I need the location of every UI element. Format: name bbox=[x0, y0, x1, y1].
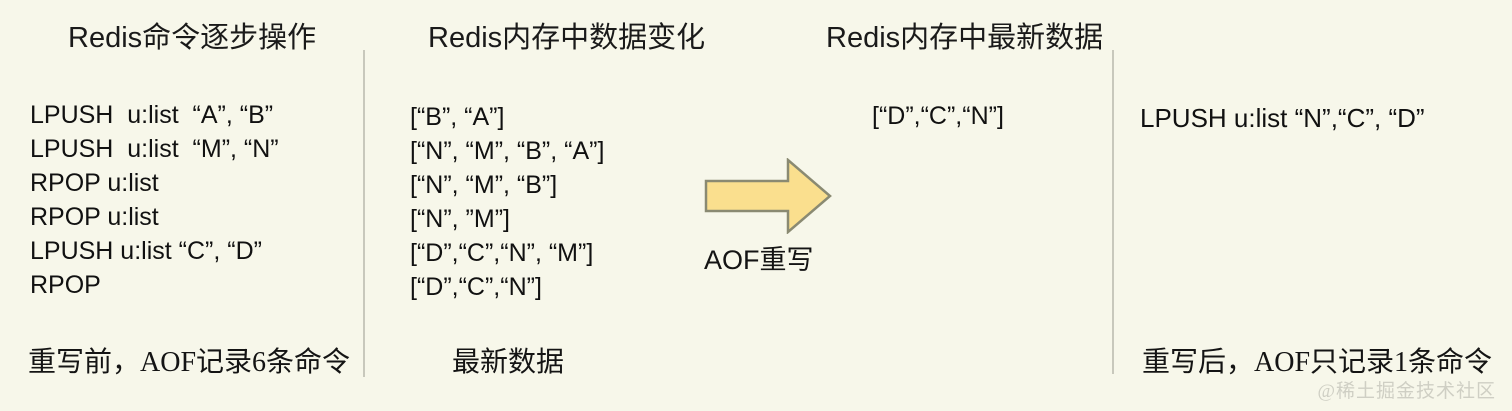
aof-rewrite-label: AOF重写 bbox=[704, 238, 814, 277]
caption-latest-data: 最新数据 bbox=[452, 340, 564, 380]
column-divider-left bbox=[363, 50, 365, 377]
heading-redis-commands: Redis命令逐步操作 bbox=[68, 14, 316, 56]
heading-redis-latest-data: Redis内存中最新数据 bbox=[826, 14, 1103, 56]
aof-rewrite-arrow-icon bbox=[704, 158, 832, 234]
memory-state-line: [“D”,“C”,“N”] bbox=[410, 275, 604, 300]
command-line: LPUSH u:list “A”, “B” bbox=[30, 103, 279, 128]
command-line: RPOP bbox=[30, 273, 279, 298]
memory-state-line: [“N”, ”M”] bbox=[410, 207, 604, 232]
memory-state-list: [“B”, “A”] [“N”, “M”, “B”, “A”] [“N”, “M… bbox=[410, 105, 604, 309]
heading-redis-memory-changes: Redis内存中数据变化 bbox=[428, 14, 705, 56]
diagram-canvas: Redis命令逐步操作 Redis内存中数据变化 Redis内存中最新数据 LP… bbox=[0, 0, 1512, 411]
watermark: @稀土掘金技术社区 bbox=[1318, 376, 1497, 403]
caption-before-rewrite: 重写前，AOF记录6条命令 bbox=[28, 340, 350, 380]
command-line: RPOP u:list bbox=[30, 171, 279, 196]
command-list: LPUSH u:list “A”, “B” LPUSH u:list “M”, … bbox=[30, 103, 279, 307]
caption-after-rewrite: 重写后，AOF只记录1条命令 bbox=[1142, 340, 1492, 380]
command-line: RPOP u:list bbox=[30, 205, 279, 230]
rewritten-aof-command: LPUSH u:list “N”,“C”, “D” bbox=[1140, 105, 1425, 131]
column-divider-right bbox=[1112, 50, 1114, 374]
command-line: LPUSH u:list “M”, “N” bbox=[30, 137, 279, 162]
latest-memory-state: [“D”,“C”,“N”] bbox=[872, 104, 1004, 129]
command-line: LPUSH u:list “C”, “D” bbox=[30, 239, 279, 264]
memory-state-line: [“N”, “M”, “B”, “A”] bbox=[410, 139, 604, 164]
memory-state-line: [“D”,“C”,“N”, “M”] bbox=[410, 241, 604, 266]
memory-state-line: [“N”, “M”, “B”] bbox=[410, 173, 604, 198]
memory-state-line: [“B”, “A”] bbox=[410, 105, 604, 130]
